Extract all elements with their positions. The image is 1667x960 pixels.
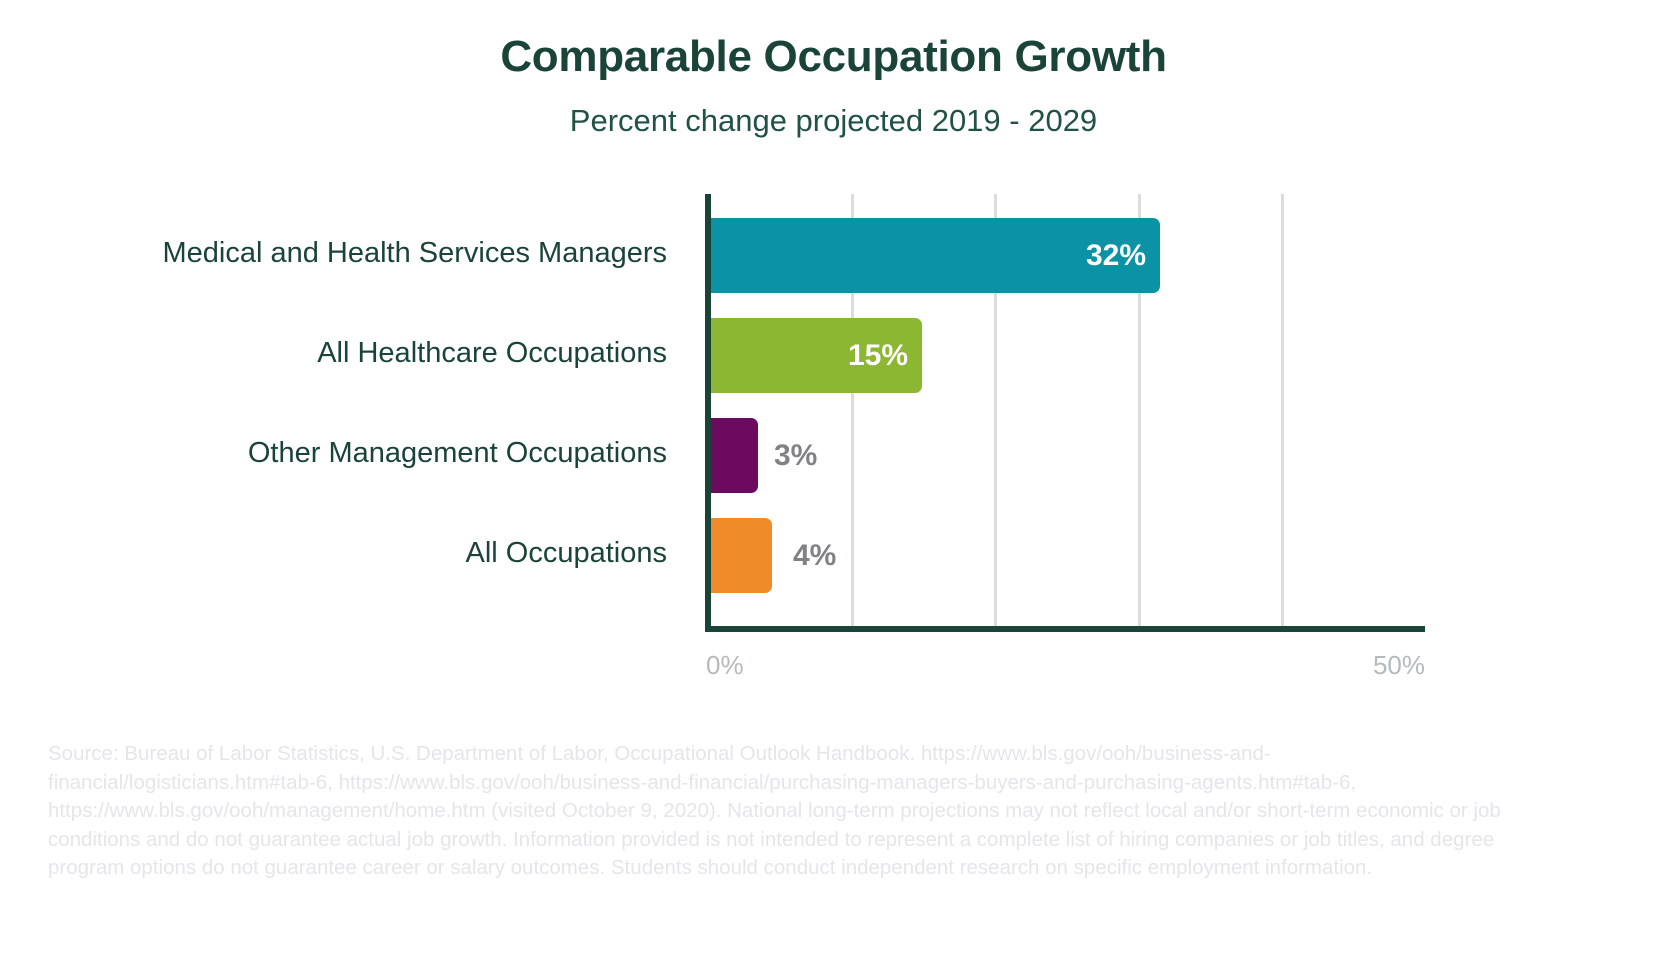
page-subtitle: Percent change projected 2019 - 2029 xyxy=(0,103,1667,139)
bar-other-management-occupations[interactable] xyxy=(708,418,758,493)
x-axis-tick-max: 50% xyxy=(1328,650,1425,681)
bar-all-occupations[interactable] xyxy=(708,518,772,593)
category-label-all-healthcare-occupations: All Healthcare Occupations xyxy=(27,337,667,370)
chart-page: Comparable Occupation Growth Percent cha… xyxy=(0,0,1667,960)
category-label-medical-and-health-services-managers: Medical and Health Services Managers xyxy=(27,237,667,270)
category-label-other-management-occupations: Other Management Occupations xyxy=(27,437,667,470)
x-axis-line xyxy=(705,626,1425,632)
bar-value-other-management-occupations: 3% xyxy=(774,418,817,493)
bar-chart: 32% 15% 3% 4% Medical and Health Service… xyxy=(0,180,1667,700)
y-axis-line xyxy=(705,194,711,632)
bar-value-all-occupations: 4% xyxy=(793,518,836,593)
bar-value-medical-and-health-services-managers: 32% xyxy=(1060,218,1146,293)
x-axis-tick-min: 0% xyxy=(706,650,744,681)
gridline-40 xyxy=(1281,194,1284,629)
page-title: Comparable Occupation Growth xyxy=(0,32,1667,82)
source-note: Source: Bureau of Labor Statistics, U.S.… xyxy=(48,740,1538,883)
category-label-all-occupations: All Occupations xyxy=(27,537,667,570)
bar-value-all-healthcare-occupations: 15% xyxy=(822,318,908,393)
